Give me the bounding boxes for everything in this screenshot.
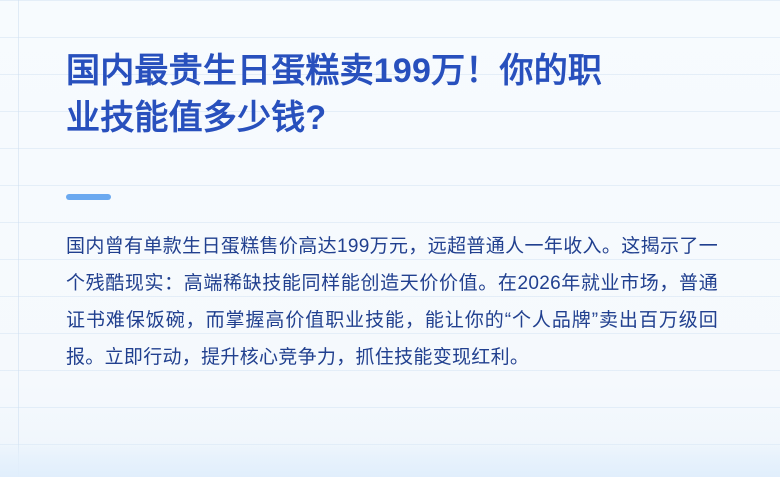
bottom-gradient-band [0,441,780,477]
article-body-paragraph: 国内曾有单款生日蛋糕售价高达199万元，远超普通人一年收入。这揭示了一个残酷现实… [66,228,718,376]
article-card: 国内最贵生日蛋糕卖199万！你的职 业技能值多少钱? 国内曾有单款生日蛋糕售价高… [0,0,780,477]
page-title: 国内最贵生日蛋糕卖199万！你的职 业技能值多少钱? [66,0,718,142]
title-accent-divider [66,194,111,200]
article-content: 国内最贵生日蛋糕卖199万！你的职 业技能值多少钱? [66,0,718,142]
